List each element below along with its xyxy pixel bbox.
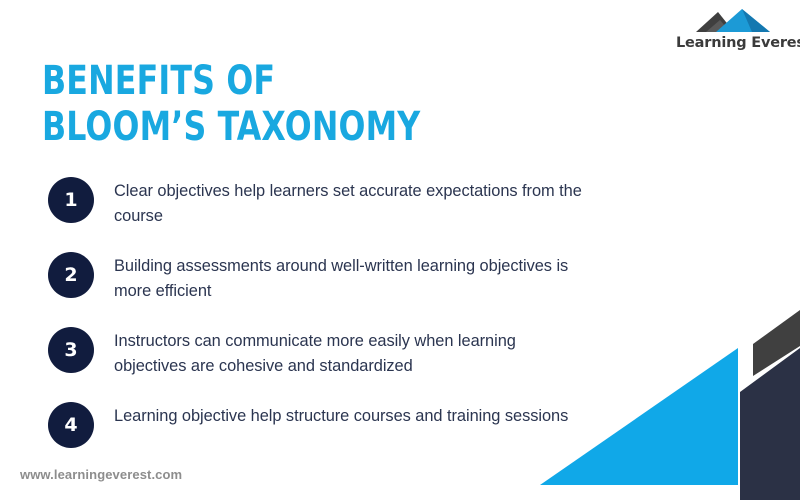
gray-band-shape	[753, 310, 800, 376]
footer-website-url: www.learningeverest.com	[20, 467, 182, 482]
list-item: 3 Instructors can communicate more easil…	[48, 326, 588, 379]
navy-block-shape	[740, 348, 800, 500]
page-title-line-1: BENEFITS OF	[42, 58, 588, 104]
slide-canvas: Learning Everest BENEFITS OF BLOOM’S TAX…	[0, 0, 800, 500]
page-title-line-2: BLOOM’S TAXONOMY	[42, 104, 588, 150]
mountain-peaks-logo-icon	[676, 8, 788, 34]
brand-logo-text: Learning Everest	[676, 35, 788, 51]
list-item: 1 Clear objectives help learners set acc…	[48, 176, 588, 229]
list-item-number-badge: 2	[48, 252, 94, 298]
list-item-number-badge: 1	[48, 177, 94, 223]
brand-logo: Learning Everest	[676, 8, 788, 51]
benefits-list: 1 Clear objectives help learners set acc…	[48, 176, 588, 449]
list-item-text: Instructors can communicate more easily …	[114, 326, 588, 379]
page-title: BENEFITS OF BLOOM’S TAXONOMY	[42, 58, 662, 150]
list-item: 4 Learning objective help structure cour…	[48, 401, 588, 449]
list-item: 2 Building assessments around well-writt…	[48, 251, 588, 304]
list-item-text: Learning objective help structure course…	[114, 401, 588, 429]
list-item-text: Building assessments around well-written…	[114, 251, 588, 304]
list-item-number-badge: 3	[48, 327, 94, 373]
list-item-number-badge: 4	[48, 402, 94, 448]
list-item-text: Clear objectives help learners set accur…	[114, 176, 588, 229]
